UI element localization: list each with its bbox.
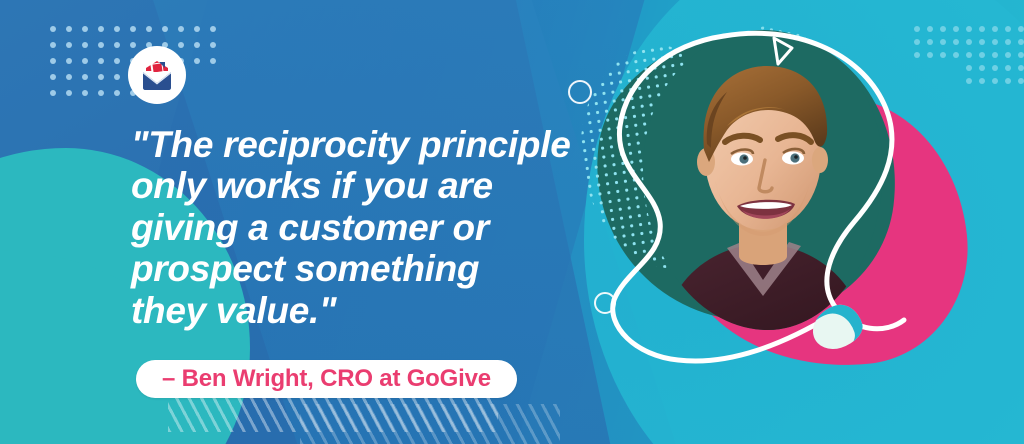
quote-text: "The reciprocity principle only works if…: [131, 124, 591, 331]
circle-outline-bottom-icon: [594, 292, 616, 314]
white-squiggle-outline-icon: [548, 8, 968, 408]
diagonal-stripes-2-icon: [300, 404, 560, 444]
triangle-outline-icon: [768, 34, 798, 68]
portrait-composition: [548, 8, 968, 408]
quote-banner: "The reciprocity principle only works if…: [0, 0, 1024, 444]
circle-outline-top-icon: [568, 80, 592, 104]
envelope-logo-icon[interactable]: [128, 46, 186, 104]
attribution-text: – Ben Wright, CRO at GoGive: [162, 365, 491, 393]
attribution-pill: – Ben Wright, CRO at GoGive: [136, 360, 517, 398]
